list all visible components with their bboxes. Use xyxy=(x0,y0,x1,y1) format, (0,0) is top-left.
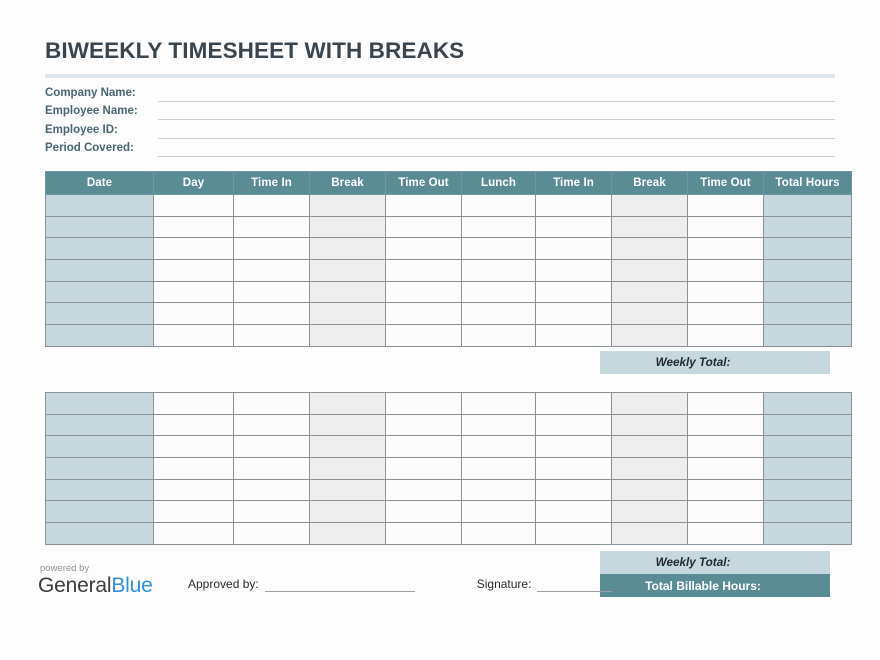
cell-break-3[interactable] xyxy=(310,479,386,501)
cell-time-in-6[interactable] xyxy=(536,458,612,480)
cell-date-0[interactable] xyxy=(46,260,154,282)
cell-total-hours-9[interactable] xyxy=(764,479,852,501)
cell-time-out-8[interactable] xyxy=(688,479,764,501)
cell-time-in-6[interactable] xyxy=(536,325,612,347)
cell-time-out-4[interactable] xyxy=(386,458,462,480)
period-covered-label: Period Covered: xyxy=(45,141,158,157)
cell-time-out-8[interactable] xyxy=(688,303,764,325)
cell-time-out-8[interactable] xyxy=(688,325,764,347)
approved-by-input[interactable] xyxy=(265,577,415,592)
table-row xyxy=(46,414,852,436)
cell-total-hours-9[interactable] xyxy=(764,414,852,436)
cell-time-in-2[interactable] xyxy=(234,479,310,501)
brand-wordmark: GeneralBlue xyxy=(38,574,188,597)
cell-break-7[interactable] xyxy=(612,238,688,260)
company-name-input[interactable] xyxy=(158,86,835,102)
cell-total-hours-9[interactable] xyxy=(764,260,852,282)
cell-time-out-4[interactable] xyxy=(386,303,462,325)
cell-break-7[interactable] xyxy=(612,260,688,282)
title-divider xyxy=(45,74,835,78)
cell-date-0[interactable] xyxy=(46,523,154,545)
employee-id-input[interactable] xyxy=(158,123,835,139)
cell-time-in-6[interactable] xyxy=(536,393,612,415)
table-row xyxy=(46,458,852,480)
cell-date-0[interactable] xyxy=(46,414,154,436)
weekly-total-label-two: Weekly Total: xyxy=(656,556,731,569)
signature-label: Signature: xyxy=(477,577,532,592)
cell-time-in-2[interactable] xyxy=(234,260,310,282)
cell-date-0[interactable] xyxy=(46,238,154,260)
column-header-day-1: Day xyxy=(154,172,234,195)
cell-time-out-8[interactable] xyxy=(688,216,764,238)
cell-day-1[interactable] xyxy=(154,501,234,523)
cell-time-out-8[interactable] xyxy=(688,195,764,217)
cell-time-in-6[interactable] xyxy=(536,303,612,325)
weekly-total-label-one: Weekly Total: xyxy=(656,356,731,369)
cell-break-7[interactable] xyxy=(612,393,688,415)
table-row xyxy=(46,479,852,501)
cell-day-1[interactable] xyxy=(154,238,234,260)
cell-time-in-6[interactable] xyxy=(536,523,612,545)
cell-break-7[interactable] xyxy=(612,325,688,347)
cell-break-3[interactable] xyxy=(310,414,386,436)
cell-break-3[interactable] xyxy=(310,501,386,523)
cell-date-0[interactable] xyxy=(46,325,154,347)
cell-time-in-2[interactable] xyxy=(234,414,310,436)
timesheet-table-week-two xyxy=(45,392,852,545)
cell-total-hours-9[interactable] xyxy=(764,281,852,303)
cell-break-3[interactable] xyxy=(310,216,386,238)
table-row xyxy=(46,436,852,458)
cell-lunch-5[interactable] xyxy=(462,260,536,282)
cell-day-1[interactable] xyxy=(154,414,234,436)
column-header-date-0: Date xyxy=(46,172,154,195)
cell-time-in-6[interactable] xyxy=(536,281,612,303)
cell-time-out-8[interactable] xyxy=(688,436,764,458)
cell-lunch-5[interactable] xyxy=(462,216,536,238)
cell-time-in-6[interactable] xyxy=(536,436,612,458)
weekly-total-bar-week-two[interactable]: Weekly Total: xyxy=(600,551,830,574)
cell-break-3[interactable] xyxy=(310,436,386,458)
cell-break-7[interactable] xyxy=(612,281,688,303)
cell-break-3[interactable] xyxy=(310,458,386,480)
info-row-period: Period Covered: xyxy=(45,139,835,158)
cell-date-0[interactable] xyxy=(46,458,154,480)
brand-general-text: General xyxy=(38,574,111,597)
cell-day-1[interactable] xyxy=(154,479,234,501)
cell-break-3[interactable] xyxy=(310,281,386,303)
cell-day-1[interactable] xyxy=(154,260,234,282)
page-title: BIWEEKLY TIMESHEET WITH BREAKS xyxy=(45,38,464,64)
cell-time-out-4[interactable] xyxy=(386,238,462,260)
cell-date-0[interactable] xyxy=(46,436,154,458)
cell-break-7[interactable] xyxy=(612,195,688,217)
cell-break-3[interactable] xyxy=(310,195,386,217)
table-header-row: DateDayTime InBreakTime OutLunchTime InB… xyxy=(46,172,852,195)
cell-lunch-5[interactable] xyxy=(462,479,536,501)
cell-time-out-4[interactable] xyxy=(386,260,462,282)
cell-day-1[interactable] xyxy=(154,281,234,303)
cell-break-3[interactable] xyxy=(310,325,386,347)
cell-break-7[interactable] xyxy=(612,523,688,545)
cell-time-in-6[interactable] xyxy=(536,195,612,217)
cell-time-in-2[interactable] xyxy=(234,281,310,303)
cell-time-out-4[interactable] xyxy=(386,281,462,303)
cell-time-out-4[interactable] xyxy=(386,195,462,217)
cell-time-in-2[interactable] xyxy=(234,523,310,545)
cell-total-hours-9[interactable] xyxy=(764,393,852,415)
table-row xyxy=(46,303,852,325)
total-billable-hours-label: Total Billable Hours: xyxy=(645,579,761,593)
cell-total-hours-9[interactable] xyxy=(764,325,852,347)
cell-time-in-2[interactable] xyxy=(234,436,310,458)
cell-total-hours-9[interactable] xyxy=(764,501,852,523)
cell-day-1[interactable] xyxy=(154,436,234,458)
cell-date-0[interactable] xyxy=(46,303,154,325)
cell-time-in-2[interactable] xyxy=(234,195,310,217)
generalblue-logo: powered by GeneralBlue xyxy=(38,563,188,597)
cell-break-7[interactable] xyxy=(612,436,688,458)
cell-total-hours-9[interactable] xyxy=(764,216,852,238)
cell-day-1[interactable] xyxy=(154,325,234,347)
column-header-lunch-5: Lunch xyxy=(462,172,536,195)
cell-time-in-2[interactable] xyxy=(234,238,310,260)
cell-total-hours-9[interactable] xyxy=(764,523,852,545)
cell-date-0[interactable] xyxy=(46,501,154,523)
cell-time-in-2[interactable] xyxy=(234,216,310,238)
cell-break-7[interactable] xyxy=(612,458,688,480)
info-row-employee-id: Employee ID: xyxy=(45,120,835,139)
cell-time-out-4[interactable] xyxy=(386,325,462,347)
info-fields: Company Name: Employee Name: Employee ID… xyxy=(45,83,835,157)
info-row-employee-name: Employee Name: xyxy=(45,102,835,121)
cell-date-0[interactable] xyxy=(46,393,154,415)
table-row xyxy=(46,238,852,260)
cell-time-in-6[interactable] xyxy=(536,501,612,523)
cell-day-1[interactable] xyxy=(154,523,234,545)
cell-time-in-6[interactable] xyxy=(536,479,612,501)
column-header-break-3: Break xyxy=(310,172,386,195)
cell-day-1[interactable] xyxy=(154,303,234,325)
table-row xyxy=(46,260,852,282)
cell-time-out-8[interactable] xyxy=(688,238,764,260)
cell-time-out-8[interactable] xyxy=(688,281,764,303)
cell-time-out-8[interactable] xyxy=(688,414,764,436)
table-row xyxy=(46,281,852,303)
cell-time-out-4[interactable] xyxy=(386,393,462,415)
cell-day-1[interactable] xyxy=(154,216,234,238)
cell-time-out-8[interactable] xyxy=(688,523,764,545)
total-billable-hours-bar[interactable]: Total Billable Hours: xyxy=(600,574,830,597)
cell-time-out-4[interactable] xyxy=(386,523,462,545)
cell-lunch-5[interactable] xyxy=(462,414,536,436)
cell-lunch-5[interactable] xyxy=(462,325,536,347)
cell-time-out-4[interactable] xyxy=(386,479,462,501)
cell-lunch-5[interactable] xyxy=(462,393,536,415)
cell-break-3[interactable] xyxy=(310,393,386,415)
table-row xyxy=(46,523,852,545)
column-header-total-hours-9: Total Hours xyxy=(764,172,852,195)
powered-by-label: powered by xyxy=(38,563,188,574)
cell-day-1[interactable] xyxy=(154,393,234,415)
cell-lunch-5[interactable] xyxy=(462,303,536,325)
cell-break-7[interactable] xyxy=(612,479,688,501)
table-row xyxy=(46,501,852,523)
cell-time-in-6[interactable] xyxy=(536,260,612,282)
approved-by-label: Approved by: xyxy=(188,577,259,592)
cell-date-0[interactable] xyxy=(46,195,154,217)
employee-name-label: Employee Name: xyxy=(45,104,158,120)
table-row xyxy=(46,393,852,415)
column-header-time-in-6: Time In xyxy=(536,172,612,195)
cell-total-hours-9[interactable] xyxy=(764,195,852,217)
column-header-time-in-2: Time In xyxy=(234,172,310,195)
column-header-break-7: Break xyxy=(612,172,688,195)
cell-time-in-2[interactable] xyxy=(234,325,310,347)
cell-total-hours-9[interactable] xyxy=(764,238,852,260)
employee-name-input[interactable] xyxy=(158,104,835,120)
cell-time-out-8[interactable] xyxy=(688,260,764,282)
cell-time-in-2[interactable] xyxy=(234,501,310,523)
company-name-label: Company Name: xyxy=(45,86,158,102)
employee-id-label: Employee ID: xyxy=(45,123,158,139)
cell-lunch-5[interactable] xyxy=(462,436,536,458)
cell-time-out-8[interactable] xyxy=(688,393,764,415)
cell-time-in-6[interactable] xyxy=(536,216,612,238)
cell-time-out-8[interactable] xyxy=(688,458,764,480)
cell-time-out-4[interactable] xyxy=(386,436,462,458)
cell-lunch-5[interactable] xyxy=(462,523,536,545)
cell-lunch-5[interactable] xyxy=(462,238,536,260)
cell-time-in-2[interactable] xyxy=(234,393,310,415)
signature-row: Approved by: Signature: xyxy=(188,577,612,592)
cell-time-in-2[interactable] xyxy=(234,303,310,325)
cell-lunch-5[interactable] xyxy=(462,195,536,217)
cell-total-hours-9[interactable] xyxy=(764,303,852,325)
cell-date-0[interactable] xyxy=(46,216,154,238)
cell-lunch-5[interactable] xyxy=(462,501,536,523)
table-row xyxy=(46,195,852,217)
cell-time-in-6[interactable] xyxy=(536,414,612,436)
timesheet-table-week-one: DateDayTime InBreakTime OutLunchTime InB… xyxy=(45,171,852,347)
cell-day-1[interactable] xyxy=(154,458,234,480)
brand-blue-text: Blue xyxy=(111,574,152,597)
cell-lunch-5[interactable] xyxy=(462,458,536,480)
cell-break-3[interactable] xyxy=(310,260,386,282)
cell-break-3[interactable] xyxy=(310,303,386,325)
cell-time-out-4[interactable] xyxy=(386,501,462,523)
signature-input[interactable] xyxy=(537,577,612,592)
cell-break-7[interactable] xyxy=(612,216,688,238)
cell-break-7[interactable] xyxy=(612,501,688,523)
cell-time-out-4[interactable] xyxy=(386,414,462,436)
cell-date-0[interactable] xyxy=(46,479,154,501)
table-row xyxy=(46,325,852,347)
cell-break-3[interactable] xyxy=(310,523,386,545)
weekly-total-bar-week-one[interactable]: Weekly Total: xyxy=(600,351,830,374)
cell-break-7[interactable] xyxy=(612,303,688,325)
info-row-company: Company Name: xyxy=(45,83,835,102)
cell-break-7[interactable] xyxy=(612,414,688,436)
cell-time-in-2[interactable] xyxy=(234,458,310,480)
cell-date-0[interactable] xyxy=(46,281,154,303)
table-row xyxy=(46,216,852,238)
cell-time-out-4[interactable] xyxy=(386,216,462,238)
cell-lunch-5[interactable] xyxy=(462,281,536,303)
cell-total-hours-9[interactable] xyxy=(764,458,852,480)
column-header-time-out-4: Time Out xyxy=(386,172,462,195)
timesheet-page: BIWEEKLY TIMESHEET WITH BREAKS Company N… xyxy=(0,0,880,660)
cell-day-1[interactable] xyxy=(154,195,234,217)
column-header-time-out-8: Time Out xyxy=(688,172,764,195)
cell-break-3[interactable] xyxy=(310,238,386,260)
cell-time-in-6[interactable] xyxy=(536,238,612,260)
cell-total-hours-9[interactable] xyxy=(764,436,852,458)
period-covered-input[interactable] xyxy=(158,141,835,157)
cell-time-out-8[interactable] xyxy=(688,501,764,523)
